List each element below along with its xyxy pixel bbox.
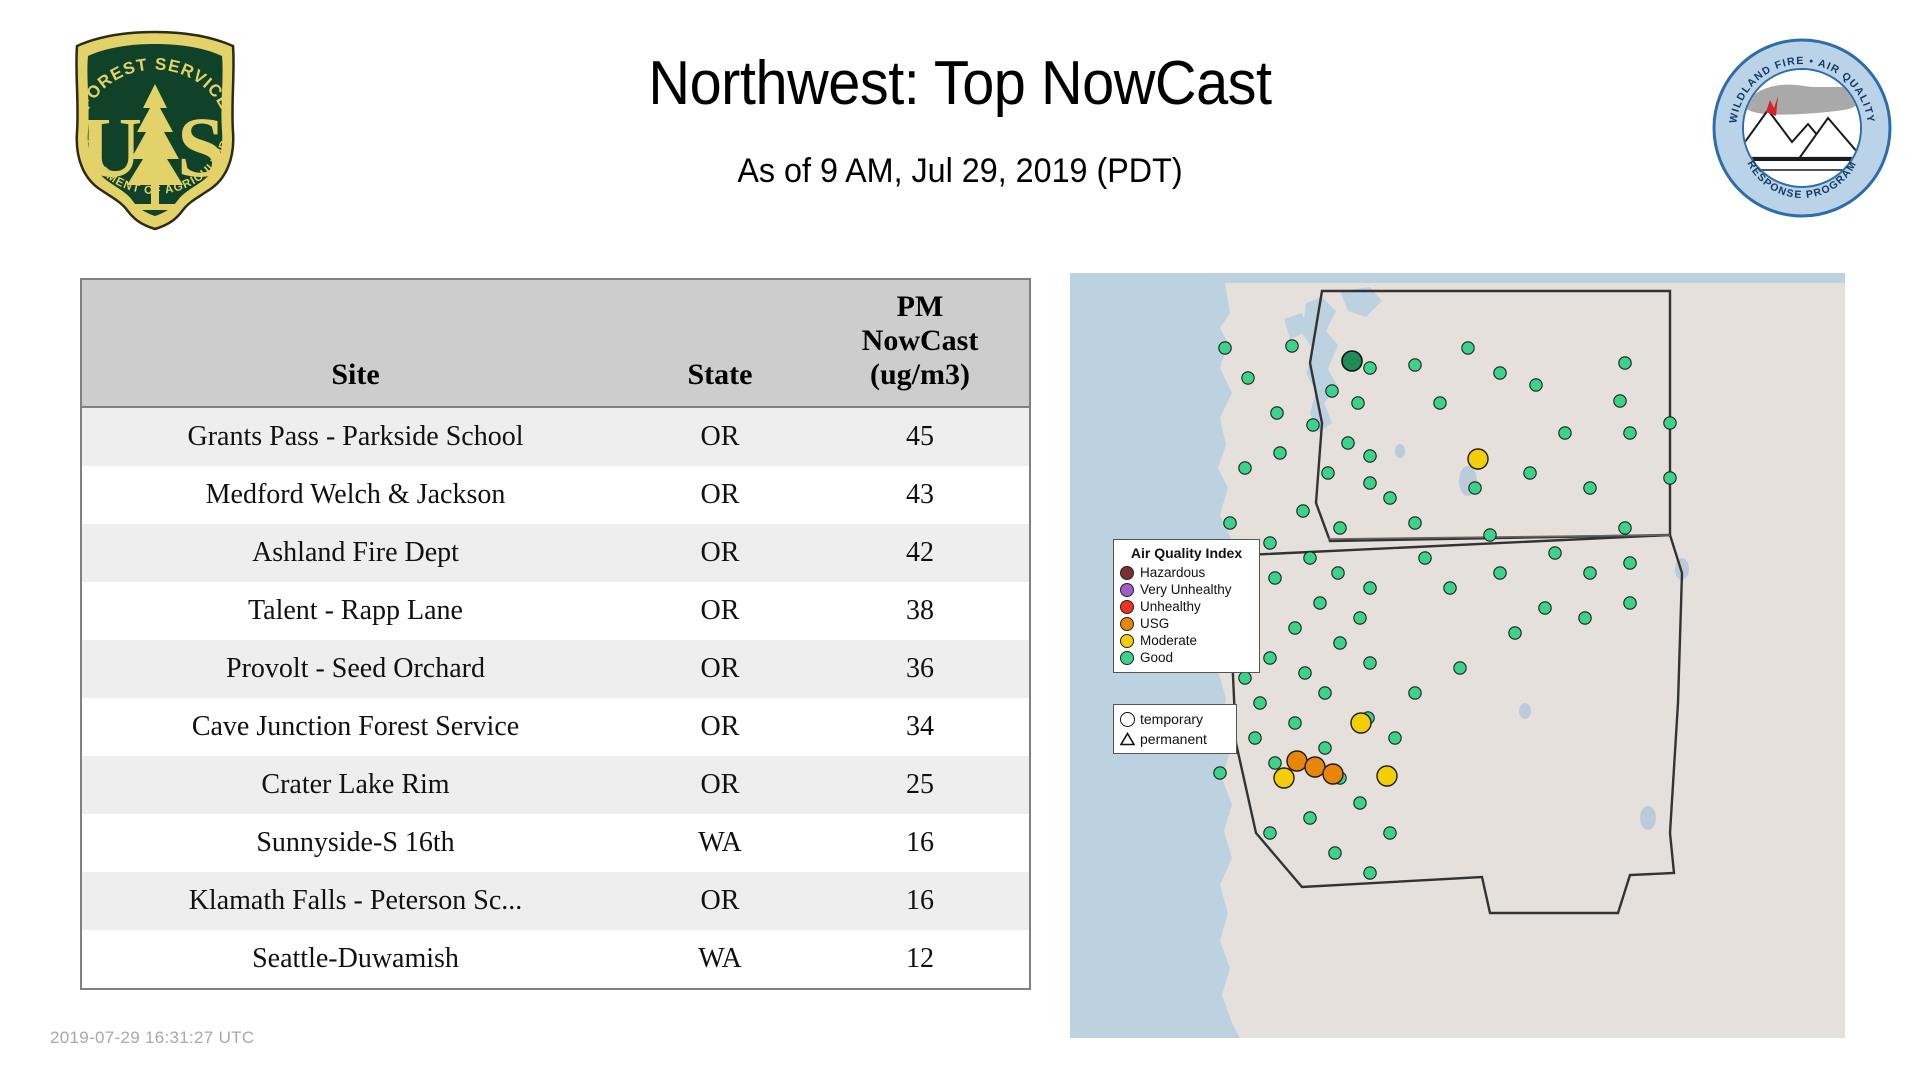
aqi-legend-label: Good [1140, 650, 1173, 665]
aqi-color-swatch-icon [1120, 583, 1134, 597]
table-row[interactable]: Klamath Falls - Peterson Sc...OR16 [81, 872, 1030, 930]
table-row[interactable]: Ashland Fire DeptOR42 [81, 524, 1030, 582]
table-row[interactable]: Crater Lake RimOR25 [81, 756, 1030, 814]
page-header: FOREST SERVICE DEPARTMENT OF AGRICULTURE… [0, 0, 1920, 262]
cell-state: WA [629, 814, 811, 872]
cell-pm-nowcast: 36 [811, 640, 1030, 698]
wfaqrp-program-logo-icon: WILDLAND FIRE • AIR QUALITY RESPONSE PRO… [1712, 38, 1892, 218]
cell-site: Ashland Fire Dept [81, 524, 629, 582]
cell-pm-nowcast: 12 [811, 930, 1030, 989]
usfs-letter-s: S [177, 99, 225, 195]
cell-pm-nowcast: 25 [811, 756, 1030, 814]
cell-pm-nowcast: 42 [811, 524, 1030, 582]
column-header-state[interactable]: State [629, 279, 811, 407]
column-header-site[interactable]: Site [81, 279, 629, 407]
aqi-legend-item: Unhealthy [1120, 598, 1253, 615]
pm-header-line1: PM [817, 290, 1023, 324]
circle-icon [1120, 712, 1135, 727]
cell-site: Grants Pass - Parkside School [81, 407, 629, 466]
triangle-icon [1120, 732, 1135, 746]
monitor-dot-seattle-duwamish [1342, 351, 1362, 371]
aqi-legend-label: Moderate [1140, 633, 1197, 648]
table-row[interactable]: Cave Junction Forest ServiceOR34 [81, 698, 1030, 756]
aqi-legend-item: Very Unhealthy [1120, 581, 1253, 598]
aqi-legend-item: USG [1120, 615, 1253, 632]
table-head: Site State PM NowCast (ug/m3) [81, 279, 1030, 407]
cell-state: OR [629, 698, 811, 756]
cell-pm-nowcast: 43 [811, 466, 1030, 524]
aqi-color-swatch-icon [1120, 600, 1134, 614]
cell-state: OR [629, 640, 811, 698]
aqi-legend-label: Very Unhealthy [1140, 582, 1232, 597]
page-subtitle: As of 9 AM, Jul 29, 2019 (PDT) [333, 148, 1587, 194]
cell-state: OR [629, 524, 811, 582]
aqi-color-swatch-icon [1120, 566, 1134, 580]
cell-state: OR [629, 466, 811, 524]
title-block: Northwest: Top NowCast As of 9 AM, Jul 2… [300, 46, 1620, 194]
cell-pm-nowcast: 45 [811, 407, 1030, 466]
cell-site: Talent - Rapp Lane [81, 582, 629, 640]
aqi-legend: Air Quality Index HazardousVery Unhealth… [1113, 539, 1260, 673]
table-row[interactable]: Seattle-DuwamishWA12 [81, 930, 1030, 989]
table-row[interactable]: Sunnyside-S 16thWA16 [81, 814, 1030, 872]
aqi-color-swatch-icon [1120, 651, 1134, 665]
cell-state: OR [629, 756, 811, 814]
aqi-legend-label: USG [1140, 616, 1169, 631]
air-quality-map[interactable]: Air Quality Index HazardousVery Unhealth… [1070, 273, 1845, 1038]
cell-site: Seattle-Duwamish [81, 930, 629, 989]
cell-state: OR [629, 582, 811, 640]
nowcast-table-container: Site State PM NowCast (ug/m3) Grants Pas… [80, 278, 995, 990]
table-header-row: Site State PM NowCast (ug/m3) [81, 279, 1030, 407]
aqi-legend-title: Air Quality Index [1120, 545, 1253, 561]
site-type-permanent-label: permanent [1140, 731, 1207, 747]
aqi-color-swatch-icon [1120, 617, 1134, 631]
cell-site: Cave Junction Forest Service [81, 698, 629, 756]
aqi-legend-item: Good [1120, 649, 1253, 666]
site-type-temporary: temporary [1120, 709, 1230, 729]
cell-pm-nowcast: 38 [811, 582, 1030, 640]
table-row[interactable]: Medford Welch & JacksonOR43 [81, 466, 1030, 524]
pm-header-line3: (ug/m3) [817, 358, 1023, 392]
land-mass [1218, 283, 1845, 1038]
cell-site: Provolt - Seed Orchard [81, 640, 629, 698]
usfs-forest-service-logo-icon: FOREST SERVICE DEPARTMENT OF AGRICULTURE… [55, 28, 255, 233]
aqi-legend-label: Hazardous [1140, 565, 1205, 580]
table-body: Grants Pass - Parkside SchoolOR45Medford… [81, 407, 1030, 989]
site-type-permanent: permanent [1120, 729, 1230, 749]
cell-state: WA [629, 930, 811, 989]
cell-pm-nowcast: 16 [811, 814, 1030, 872]
table-row[interactable]: Talent - Rapp LaneOR38 [81, 582, 1030, 640]
table-row[interactable]: Provolt - Seed OrchardOR36 [81, 640, 1030, 698]
cell-site: Medford Welch & Jackson [81, 466, 629, 524]
cell-state: OR [629, 872, 811, 930]
cell-pm-nowcast: 16 [811, 872, 1030, 930]
table-row[interactable]: Grants Pass - Parkside SchoolOR45 [81, 407, 1030, 466]
cell-pm-nowcast: 34 [811, 698, 1030, 756]
aqi-legend-item: Moderate [1120, 632, 1253, 649]
aqi-legend-rows: HazardousVery UnhealthyUnhealthyUSGModer… [1120, 564, 1253, 666]
site-type-temporary-label: temporary [1140, 711, 1203, 727]
site-type-legend: temporary permanent [1113, 704, 1237, 754]
aqi-legend-label: Unhealthy [1140, 599, 1201, 614]
aqi-color-swatch-icon [1120, 634, 1134, 648]
cell-site: Sunnyside-S 16th [81, 814, 629, 872]
cell-state: OR [629, 407, 811, 466]
aqi-legend-item: Hazardous [1120, 564, 1253, 581]
cell-site: Crater Lake Rim [81, 756, 629, 814]
column-header-pm-nowcast[interactable]: PM NowCast (ug/m3) [811, 279, 1030, 407]
pm-header-line2: NowCast [817, 324, 1023, 358]
footer-timestamp: 2019-07-29 16:31:27 UTC [50, 1028, 254, 1048]
nowcast-table: Site State PM NowCast (ug/m3) Grants Pas… [80, 278, 1031, 990]
page-title: Northwest: Top NowCast [346, 46, 1574, 122]
cell-site: Klamath Falls - Peterson Sc... [81, 872, 629, 930]
